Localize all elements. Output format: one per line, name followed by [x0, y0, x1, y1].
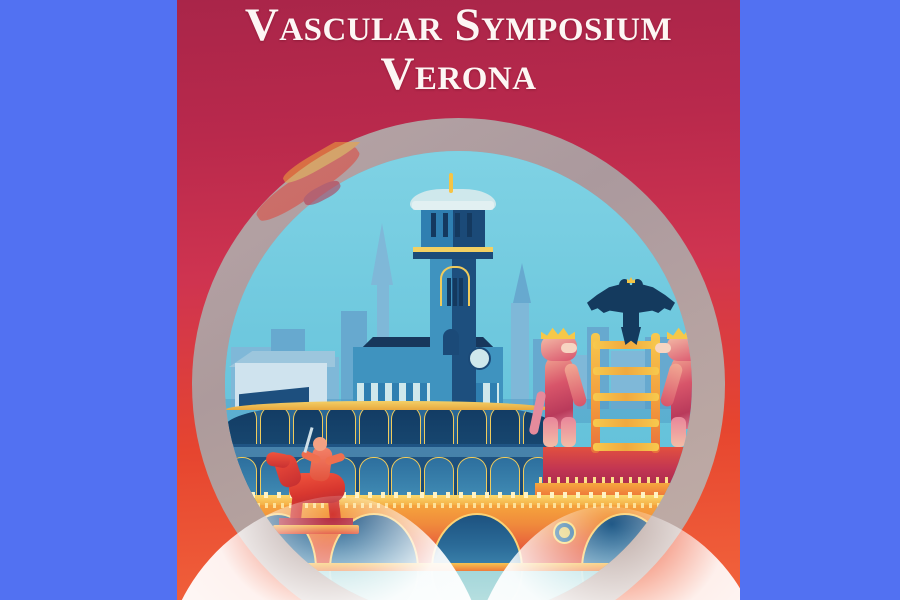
title-line-1: Vascular Symposium	[177, 2, 740, 49]
scaliger-eagle-icon	[587, 277, 675, 339]
screenshot-stage: Vascular Symposium Verona	[0, 0, 900, 600]
poster-title: Vascular Symposium Verona	[177, 2, 740, 98]
tower-clock	[468, 347, 491, 370]
crowned-lion-right-icon	[661, 329, 692, 449]
title-line-2: Verona	[177, 51, 740, 98]
ring-decor-fragments	[238, 142, 388, 252]
crowned-lion-left-icon	[535, 329, 587, 449]
symposium-poster: Vascular Symposium Verona	[177, 0, 740, 600]
